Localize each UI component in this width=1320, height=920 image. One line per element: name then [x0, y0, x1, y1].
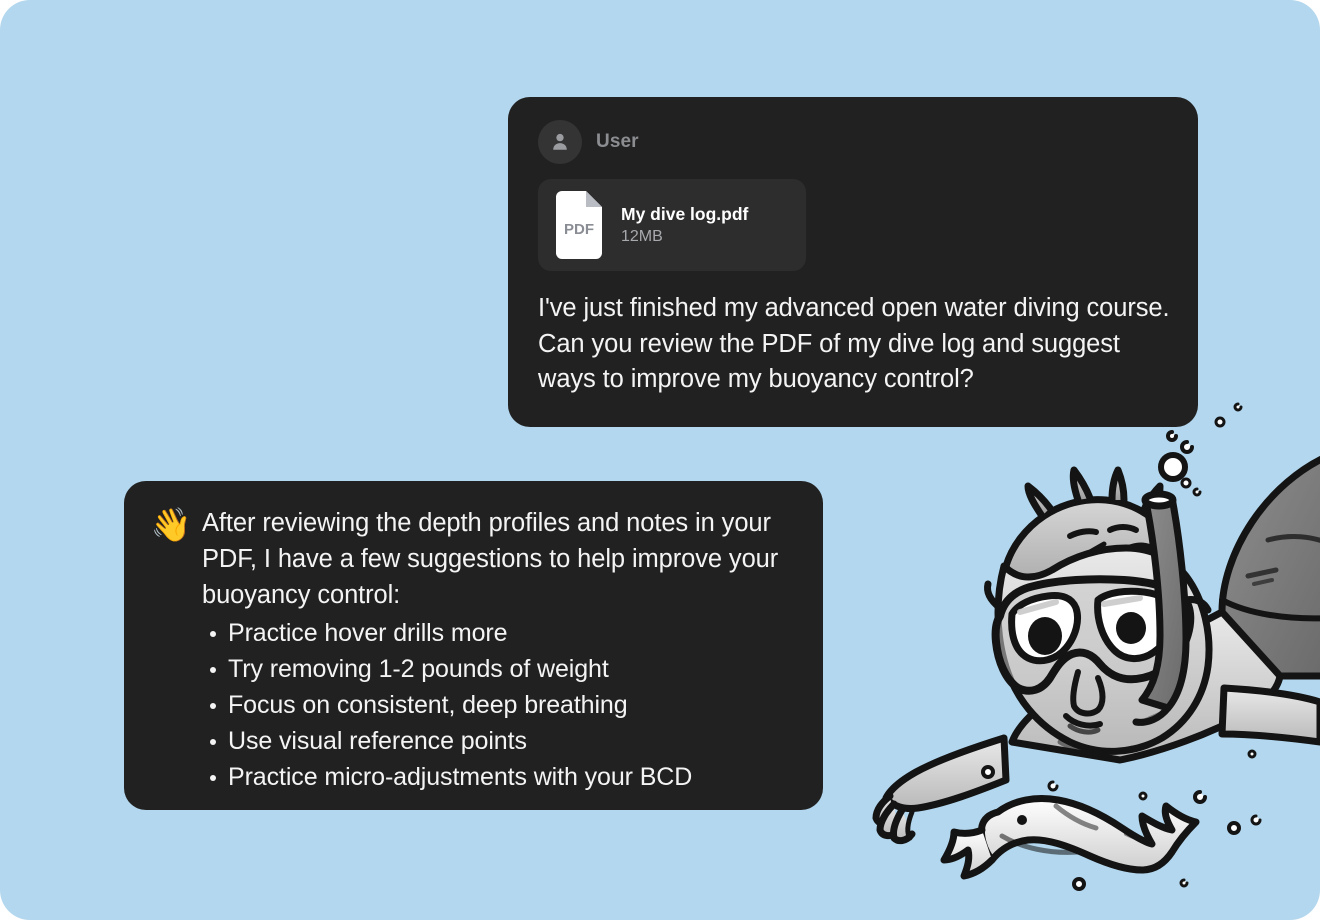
assistant-message-intro: After reviewing the depth profiles and n…	[202, 505, 799, 613]
list-item: Focus on consistent, deep breathing	[202, 687, 799, 723]
avatar	[538, 120, 582, 164]
user-message-header: User	[538, 119, 1172, 165]
pdf-file-icon: PDF	[552, 191, 606, 259]
user-message-bubble: User PDF My dive log.pdf 12MB I've just …	[508, 97, 1198, 427]
attachment-file-name: My dive log.pdf	[621, 204, 748, 225]
page-root: User PDF My dive log.pdf 12MB I've just …	[0, 0, 1320, 920]
assistant-suggestion-list: Practice hover drills moreTry removing 1…	[202, 615, 799, 795]
user-role-label: User	[596, 131, 639, 153]
person-icon	[549, 131, 571, 153]
assistant-message-bubble: 👋 After reviewing the depth profiles and…	[124, 481, 823, 810]
list-item: Practice micro-adjustments with your BCD	[202, 759, 799, 795]
attachment-file-size: 12MB	[621, 228, 748, 246]
svg-text:PDF: PDF	[564, 221, 594, 238]
chat-thread: User PDF My dive log.pdf 12MB I've just …	[0, 0, 1320, 920]
list-item: Use visual reference points	[202, 723, 799, 759]
list-item: Try removing 1-2 pounds of weight	[202, 651, 799, 687]
list-item: Practice hover drills more	[202, 615, 799, 651]
attachment-card[interactable]: PDF My dive log.pdf 12MB	[538, 179, 806, 271]
waving-hand-emoji: 👋	[150, 507, 192, 543]
user-message-text: I've just finished my advanced open wate…	[538, 291, 1172, 398]
